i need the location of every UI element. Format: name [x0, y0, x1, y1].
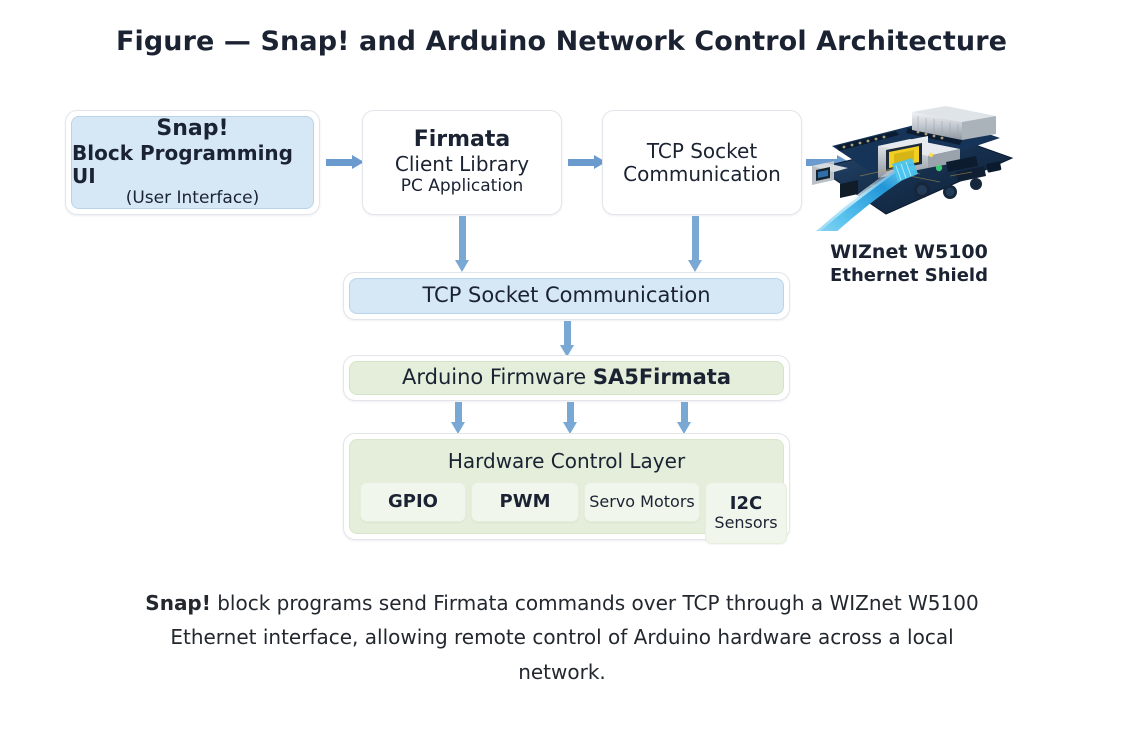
chip-i2c-sensors: I2C Sensors	[705, 482, 787, 544]
shield-caption: WIZnet W5100 Ethernet Shield	[798, 240, 1020, 287]
node-firmata-line3: PC Application	[401, 176, 524, 196]
arduino-ethernet-shield-photo	[800, 106, 1015, 231]
node-firmata-panel: Firmata Client Library PC Application	[368, 116, 556, 209]
arrow-firmata-to-tcp	[568, 155, 606, 169]
node-snap-panel: Snap! Block Programming UI (User Interfa…	[71, 116, 314, 209]
node-snap-line1: Snap!	[156, 117, 228, 142]
node-firmata-line2: Client Library	[395, 153, 529, 176]
bar-tcp-socket-communication: TCP Socket Communication	[343, 272, 790, 320]
shield-label-line1: WIZnet W5100	[798, 240, 1020, 264]
node-firmata-line1: Firmata	[414, 128, 511, 153]
node-tcp-socket-line1: TCP Socket	[647, 140, 757, 163]
node-tcp-socket-panel: TCP Socket Communication	[608, 116, 796, 209]
node-snap: Snap! Block Programming UI (User Interfa…	[65, 110, 320, 215]
chip-i2c-label: I2C	[730, 494, 762, 514]
hardware-panel: Hardware Control Layer GPIO PWM Servo Mo…	[349, 439, 784, 534]
chip-servo-motors: Servo Motors	[584, 482, 700, 522]
caption-rest: block programs send Firmata commands ove…	[170, 591, 978, 684]
chip-pwm: PWM	[471, 482, 579, 522]
arrow-snap-to-firmata	[326, 155, 364, 169]
shield-label-line2: Ethernet Shield	[798, 264, 1020, 287]
bar-firmware-label: Arduino Firmware SA5Firmata	[402, 365, 731, 390]
arrow-firmware-to-hardware-3	[677, 402, 691, 434]
node-snap-line2: Block Programming UI	[72, 142, 313, 188]
panel-hardware-control-layer: Hardware Control Layer GPIO PWM Servo Mo…	[343, 433, 790, 540]
hardware-chip-row: GPIO PWM Servo Motors I2C Sensors	[360, 482, 773, 544]
bar-arduino-firmware: Arduino Firmware SA5Firmata	[343, 355, 790, 401]
arrow-firmware-to-hardware-1	[451, 402, 465, 434]
chip-servo-motors-label: Servo Motors	[589, 493, 695, 511]
figure-title: Figure — Snap! and Arduino Network Contr…	[0, 26, 1123, 57]
bar-tcp-label: TCP Socket Communication	[422, 283, 710, 308]
figure-caption: Snap! block programs send Firmata comman…	[142, 586, 982, 689]
bar-firmware-strong: SA5Firmata	[593, 365, 731, 389]
chip-gpio: GPIO	[360, 482, 466, 522]
arrow-tcp-bar-to-firmware	[560, 321, 574, 357]
chip-sensors-label: Sensors	[714, 514, 777, 532]
bar-firmware-prefix: Arduino Firmware	[402, 365, 593, 389]
chip-gpio-label: GPIO	[388, 492, 438, 512]
node-snap-line3: (User Interface)	[126, 188, 260, 208]
arrow-tcp-socket-down	[688, 216, 702, 272]
hardware-title: Hardware Control Layer	[448, 449, 685, 473]
bar-firmware-panel: Arduino Firmware SA5Firmata	[349, 361, 784, 395]
diagram-canvas: Figure — Snap! and Arduino Network Contr…	[0, 0, 1123, 750]
caption-strong: Snap!	[145, 591, 211, 615]
arrow-firmata-down	[455, 216, 469, 272]
node-tcp-socket: TCP Socket Communication	[602, 110, 802, 215]
node-tcp-socket-line2: Communication	[623, 163, 781, 186]
arrow-firmware-to-hardware-2	[563, 402, 577, 434]
chip-pwm-label: PWM	[500, 492, 551, 512]
node-firmata: Firmata Client Library PC Application	[362, 110, 562, 215]
bar-tcp-panel: TCP Socket Communication	[349, 278, 784, 314]
